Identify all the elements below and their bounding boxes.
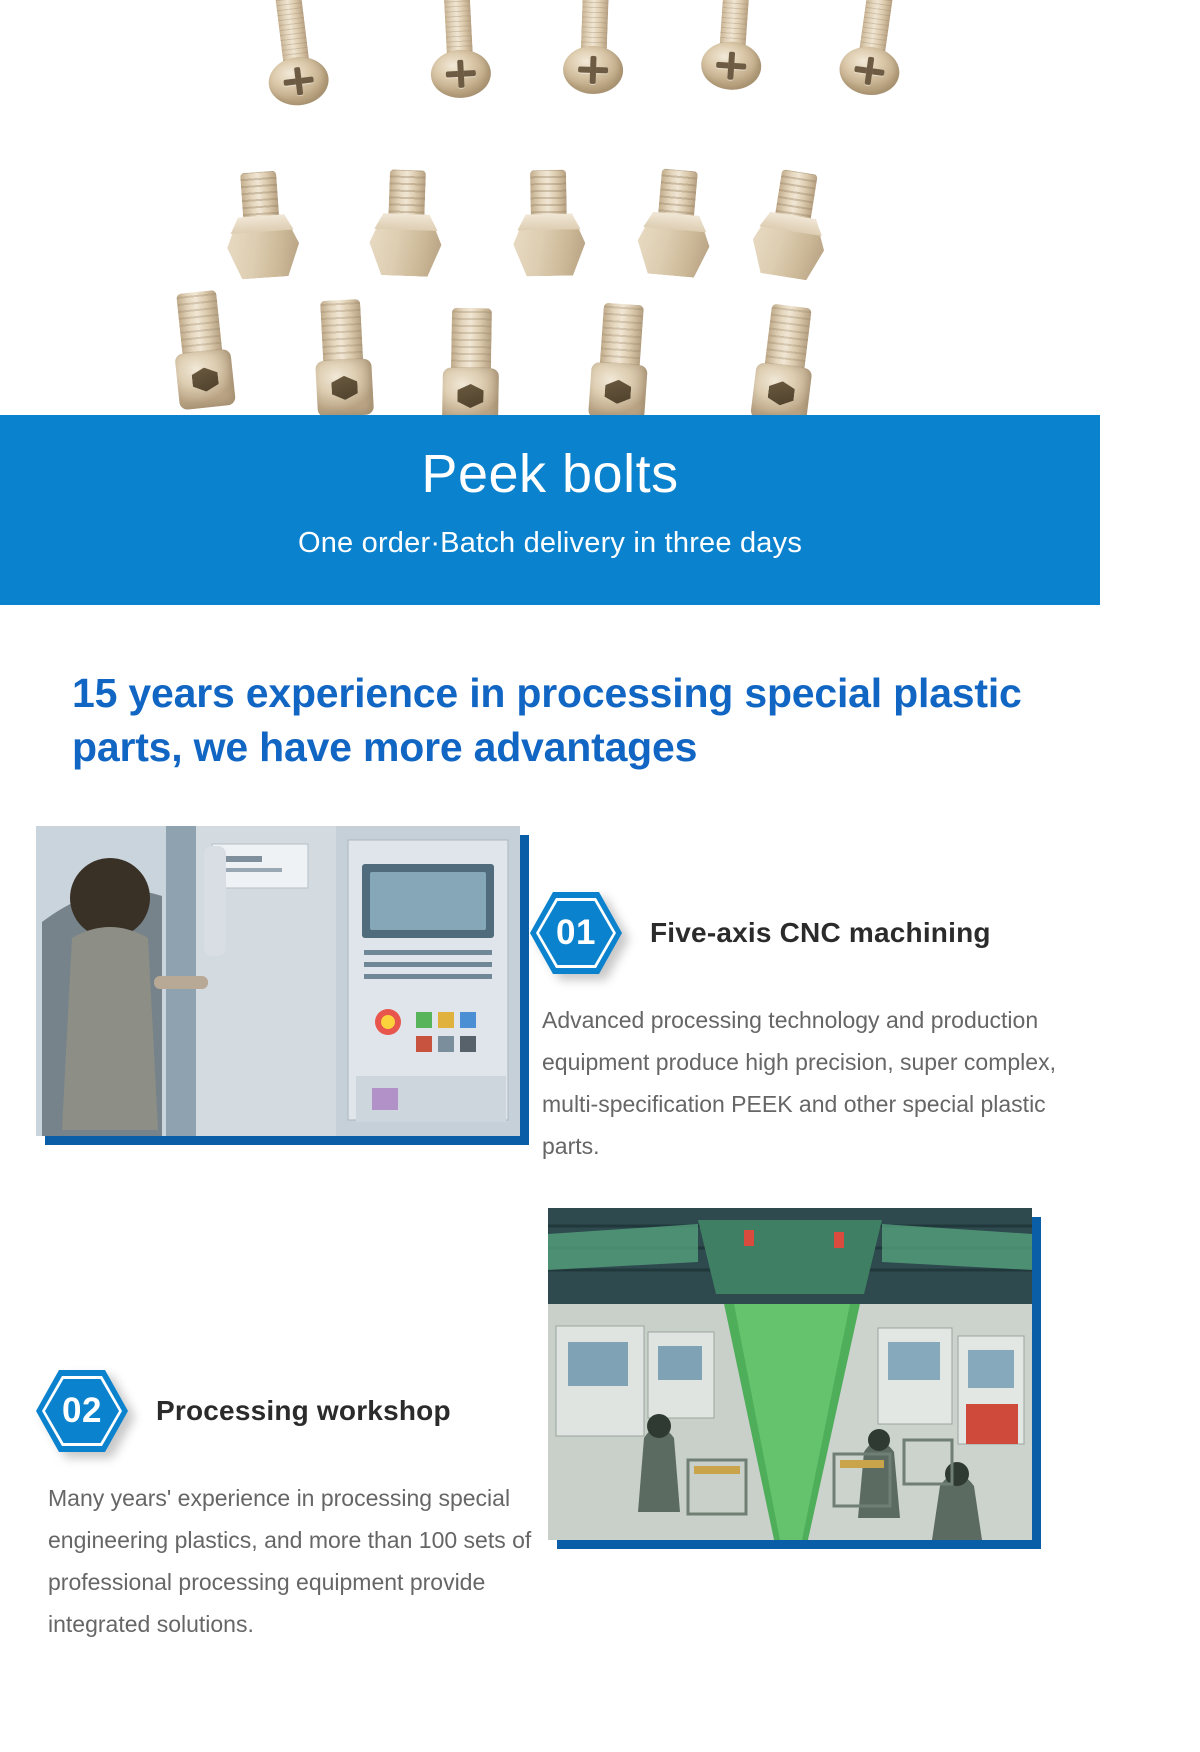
hex-head-top [513, 213, 585, 230]
feature-02-text: Many years' experience in processing spe… [36, 1478, 536, 1645]
feature-02-photo [548, 1208, 1032, 1540]
screw-shank [442, 0, 473, 58]
cnc-photo-illustration [36, 826, 520, 1136]
section-headline: 15 years experience in processing specia… [72, 666, 1072, 774]
workshop-photo-illustration [548, 1208, 1032, 1540]
feature-01-text: Advanced processing technology and produ… [530, 1000, 1078, 1167]
feature-02-header: 02 Processing workshop [36, 1370, 536, 1452]
feature-01-photo [36, 826, 520, 1136]
screw-body [451, 308, 492, 377]
hex-head-top [370, 213, 443, 232]
feature-number-badge: 02 [36, 1370, 128, 1452]
workshop-photo-art [548, 1208, 1032, 1540]
feature-number: 02 [36, 1370, 128, 1452]
feature-02-title: Processing workshop [156, 1395, 451, 1427]
phillips-cross-icon [590, 56, 597, 84]
feature-01-body: 01 Five-axis CNC machining Advanced proc… [530, 892, 1078, 1167]
title-banner: Peek bolts One order·Batch delivery in t… [0, 415, 1100, 605]
feature-01-header: 01 Five-axis CNC machining [530, 892, 1078, 974]
feature-number-badge: 01 [530, 892, 622, 974]
cnc-machine-photo-art [36, 826, 520, 1136]
bolt-thread [530, 170, 567, 221]
feature-number: 01 [530, 892, 622, 974]
banner-title: Peek bolts [0, 415, 1100, 501]
feature-02-body: 02 Processing workshop Many years' exper… [36, 1370, 536, 1645]
feature-block-01: 01 Five-axis CNC machining Advanced proc… [0, 826, 1100, 1166]
product-detail-page: Peek bolts One order·Batch delivery in t… [0, 0, 1200, 1752]
bolt-thread [388, 169, 426, 220]
hero-product-photo [0, 0, 1100, 415]
feature-01-title: Five-axis CNC machining [650, 917, 991, 949]
feature-block-02: 02 Processing workshop Many years' exper… [0, 1190, 1100, 1750]
screw-shank [272, 0, 309, 66]
banner-subtitle: One order·Batch delivery in three days [0, 501, 1100, 560]
